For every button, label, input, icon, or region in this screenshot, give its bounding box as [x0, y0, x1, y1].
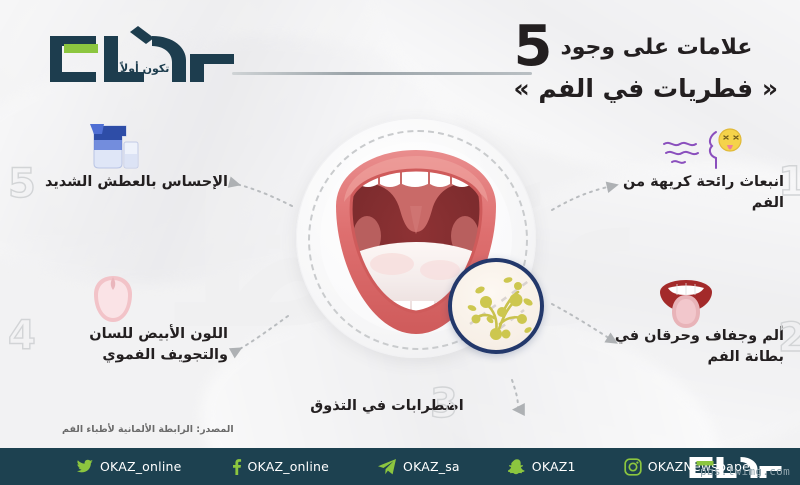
social-snapchat[interactable]: OKAZ1 [508, 458, 576, 476]
footer-social-bar: OKAZ_online OKAZ_online OKAZ_sa OKAZ1 [0, 448, 800, 485]
header-rule [232, 72, 532, 75]
snapchat-icon [508, 458, 526, 476]
title-line-1: علامات على وجود [560, 35, 752, 60]
instagram-icon [624, 458, 642, 476]
item-number: 3 [430, 384, 458, 424]
list-item: 4 اللون الأبيض للسان والتجويف الفموي [32, 324, 228, 366]
image-watermark: pbs.twimg.com [700, 465, 790, 478]
telegram-icon [377, 458, 397, 476]
source-note: المصدر: الرابطة الألمانية لأطباء الفم [62, 424, 234, 435]
pink-tongue-icon [92, 274, 134, 328]
item-label: الإحساس بالعطش الشديد [32, 172, 228, 193]
social-telegram[interactable]: OKAZ_sa [377, 458, 460, 476]
item-number: 1 [778, 162, 800, 202]
list-item: 5 الإحساس بالعطش الشديد [32, 172, 228, 193]
water-pitcher-icon [88, 120, 142, 174]
item-number: 5 [8, 164, 36, 204]
facebook-handle: OKAZ_online [248, 459, 330, 474]
facebook-icon [230, 458, 242, 476]
list-item: 3 اضطرابات في التذوق [292, 396, 482, 417]
bad-breath-icon [658, 126, 744, 176]
title-number: 5 [513, 22, 552, 72]
candida-magnifier [448, 258, 544, 354]
twitter-handle: OKAZ_online [100, 459, 182, 474]
title-line-2: « فطريات في الفم » [513, 74, 778, 103]
logo-tagline: أن تكون أولاً [120, 62, 186, 75]
item-number: 4 [8, 316, 36, 356]
twitter-icon [76, 459, 94, 475]
item-label: اللون الأبيض للسان والتجويف الفموي [32, 324, 228, 366]
list-item: 1 انبعاث رائحة كريهة من الفم [614, 172, 784, 214]
list-item: 2 ألم وجفاف وحرقان في بطانة الفم [606, 326, 784, 368]
mouth-tongue-icon [658, 278, 714, 334]
social-facebook[interactable]: OKAZ_online [230, 458, 330, 476]
okaz-logo [42, 18, 252, 94]
snapchat-handle: OKAZ1 [532, 459, 576, 474]
item-number: 2 [778, 318, 800, 358]
infographic-root: عكاظ [0, 0, 800, 485]
center-illustration [296, 118, 536, 386]
page-title: علامات على وجود 5 « فطريات في الفم » [513, 22, 778, 103]
telegram-handle: OKAZ_sa [403, 459, 460, 474]
item-label: انبعاث رائحة كريهة من الفم [614, 172, 784, 214]
social-twitter[interactable]: OKAZ_online [76, 459, 182, 475]
